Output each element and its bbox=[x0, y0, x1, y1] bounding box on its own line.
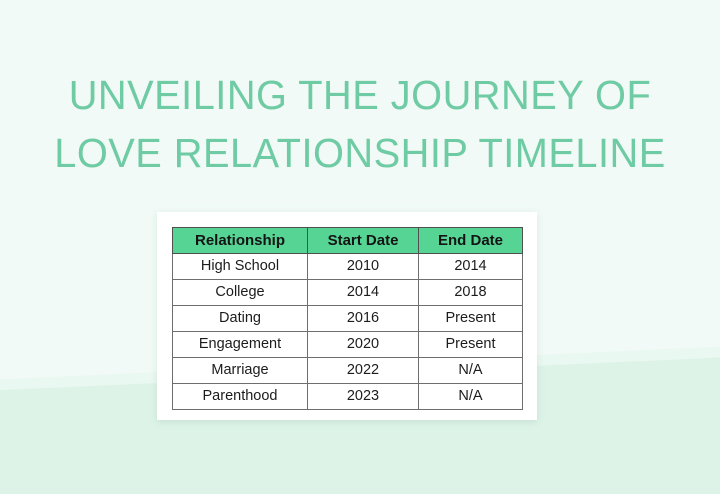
cell-relationship: College bbox=[173, 280, 308, 306]
cell-start-date: 2023 bbox=[308, 384, 419, 410]
cell-relationship: High School bbox=[173, 254, 308, 280]
table-row: College 2014 2018 bbox=[173, 280, 523, 306]
cell-end-date: Present bbox=[419, 332, 523, 358]
cell-relationship: Parenthood bbox=[173, 384, 308, 410]
table-row: Parenthood 2023 N/A bbox=[173, 384, 523, 410]
column-header-start-date: Start Date bbox=[308, 228, 419, 254]
timeline-table-container: Relationship Start Date End Date High Sc… bbox=[172, 227, 522, 410]
cell-start-date: 2014 bbox=[308, 280, 419, 306]
page-title: UNVEILING THE JOURNEY OF LOVE RELATIONSH… bbox=[11, 66, 709, 182]
cell-relationship: Dating bbox=[173, 306, 308, 332]
cell-start-date: 2022 bbox=[308, 358, 419, 384]
cell-end-date: N/A bbox=[419, 358, 523, 384]
table-header-row: Relationship Start Date End Date bbox=[173, 228, 523, 254]
table-row: Marriage 2022 N/A bbox=[173, 358, 523, 384]
cell-end-date: N/A bbox=[419, 384, 523, 410]
column-header-end-date: End Date bbox=[419, 228, 523, 254]
cell-relationship: Engagement bbox=[173, 332, 308, 358]
cell-start-date: 2010 bbox=[308, 254, 419, 280]
table-row: High School 2010 2014 bbox=[173, 254, 523, 280]
cell-end-date: 2018 bbox=[419, 280, 523, 306]
timeline-table: Relationship Start Date End Date High Sc… bbox=[172, 227, 523, 410]
slide-canvas: UNVEILING THE JOURNEY OF LOVE RELATIONSH… bbox=[0, 0, 720, 494]
table-row: Dating 2016 Present bbox=[173, 306, 523, 332]
cell-relationship: Marriage bbox=[173, 358, 308, 384]
cell-end-date: 2014 bbox=[419, 254, 523, 280]
cell-start-date: 2016 bbox=[308, 306, 419, 332]
column-header-relationship: Relationship bbox=[173, 228, 308, 254]
table-row: Engagement 2020 Present bbox=[173, 332, 523, 358]
cell-end-date: Present bbox=[419, 306, 523, 332]
cell-start-date: 2020 bbox=[308, 332, 419, 358]
